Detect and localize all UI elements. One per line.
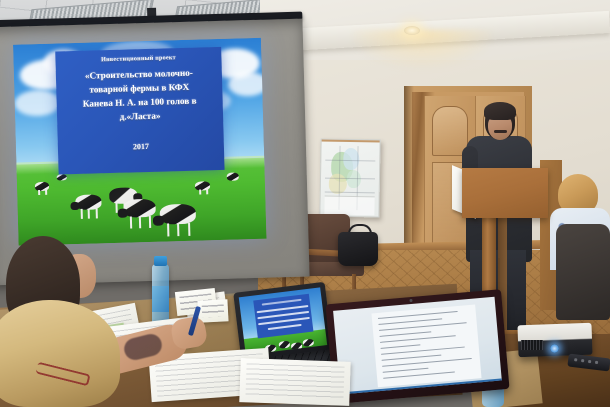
projected-slide: Инвестиционный проект «Строительство мол… (13, 38, 267, 246)
chair-right[interactable] (556, 224, 610, 320)
slide-cow (57, 174, 67, 180)
photo-scene: Инвестиционный проект «Строительство мол… (0, 0, 610, 407)
laptop-right-document (371, 304, 481, 387)
slide-cow (123, 199, 155, 218)
laptop-right-lid (326, 289, 510, 404)
bottle-cap (154, 256, 167, 266)
handbag[interactable] (338, 232, 378, 266)
laptop-left-cow-image (262, 337, 313, 355)
laptop-left-slide-panel (253, 294, 313, 339)
webcam-icon (409, 299, 412, 302)
laptop-right[interactable] (326, 288, 525, 407)
laptop-right-screen (333, 297, 502, 395)
bottle-label (152, 286, 169, 312)
slide-cow (160, 204, 197, 225)
lectern[interactable] (462, 168, 548, 218)
ceiling-downlight-icon (404, 26, 420, 35)
projector-lens-icon (550, 344, 559, 353)
slide-title-panel: Инвестиционный проект «Строительство мол… (55, 47, 224, 175)
speaker-moustache (494, 130, 507, 133)
projector-vent (521, 340, 543, 350)
speaker-hair (484, 102, 516, 120)
slide-kicker: Инвестиционный проект (55, 53, 221, 65)
wall-map-poster (319, 138, 380, 217)
slide-title-line-1: «Строительство молочно- (56, 67, 222, 82)
slide-title-line-3: Канева Н. А. на 100 голов в (57, 95, 223, 110)
slide-title-line-4: д.«Ласта» (57, 109, 223, 124)
slide-cow (227, 172, 239, 180)
map-legend (324, 196, 374, 216)
slide-cow (35, 182, 49, 191)
name-card (197, 299, 228, 323)
laptop-left-screen (239, 287, 327, 355)
slide-cow (75, 194, 101, 211)
slide-title-line-2: товарной фермы в КФХ (56, 81, 222, 96)
handout-paper[interactable] (239, 358, 350, 406)
slide-year: 2017 (58, 140, 224, 154)
map-hanger-bar (320, 138, 381, 142)
slide-cow (195, 181, 210, 190)
